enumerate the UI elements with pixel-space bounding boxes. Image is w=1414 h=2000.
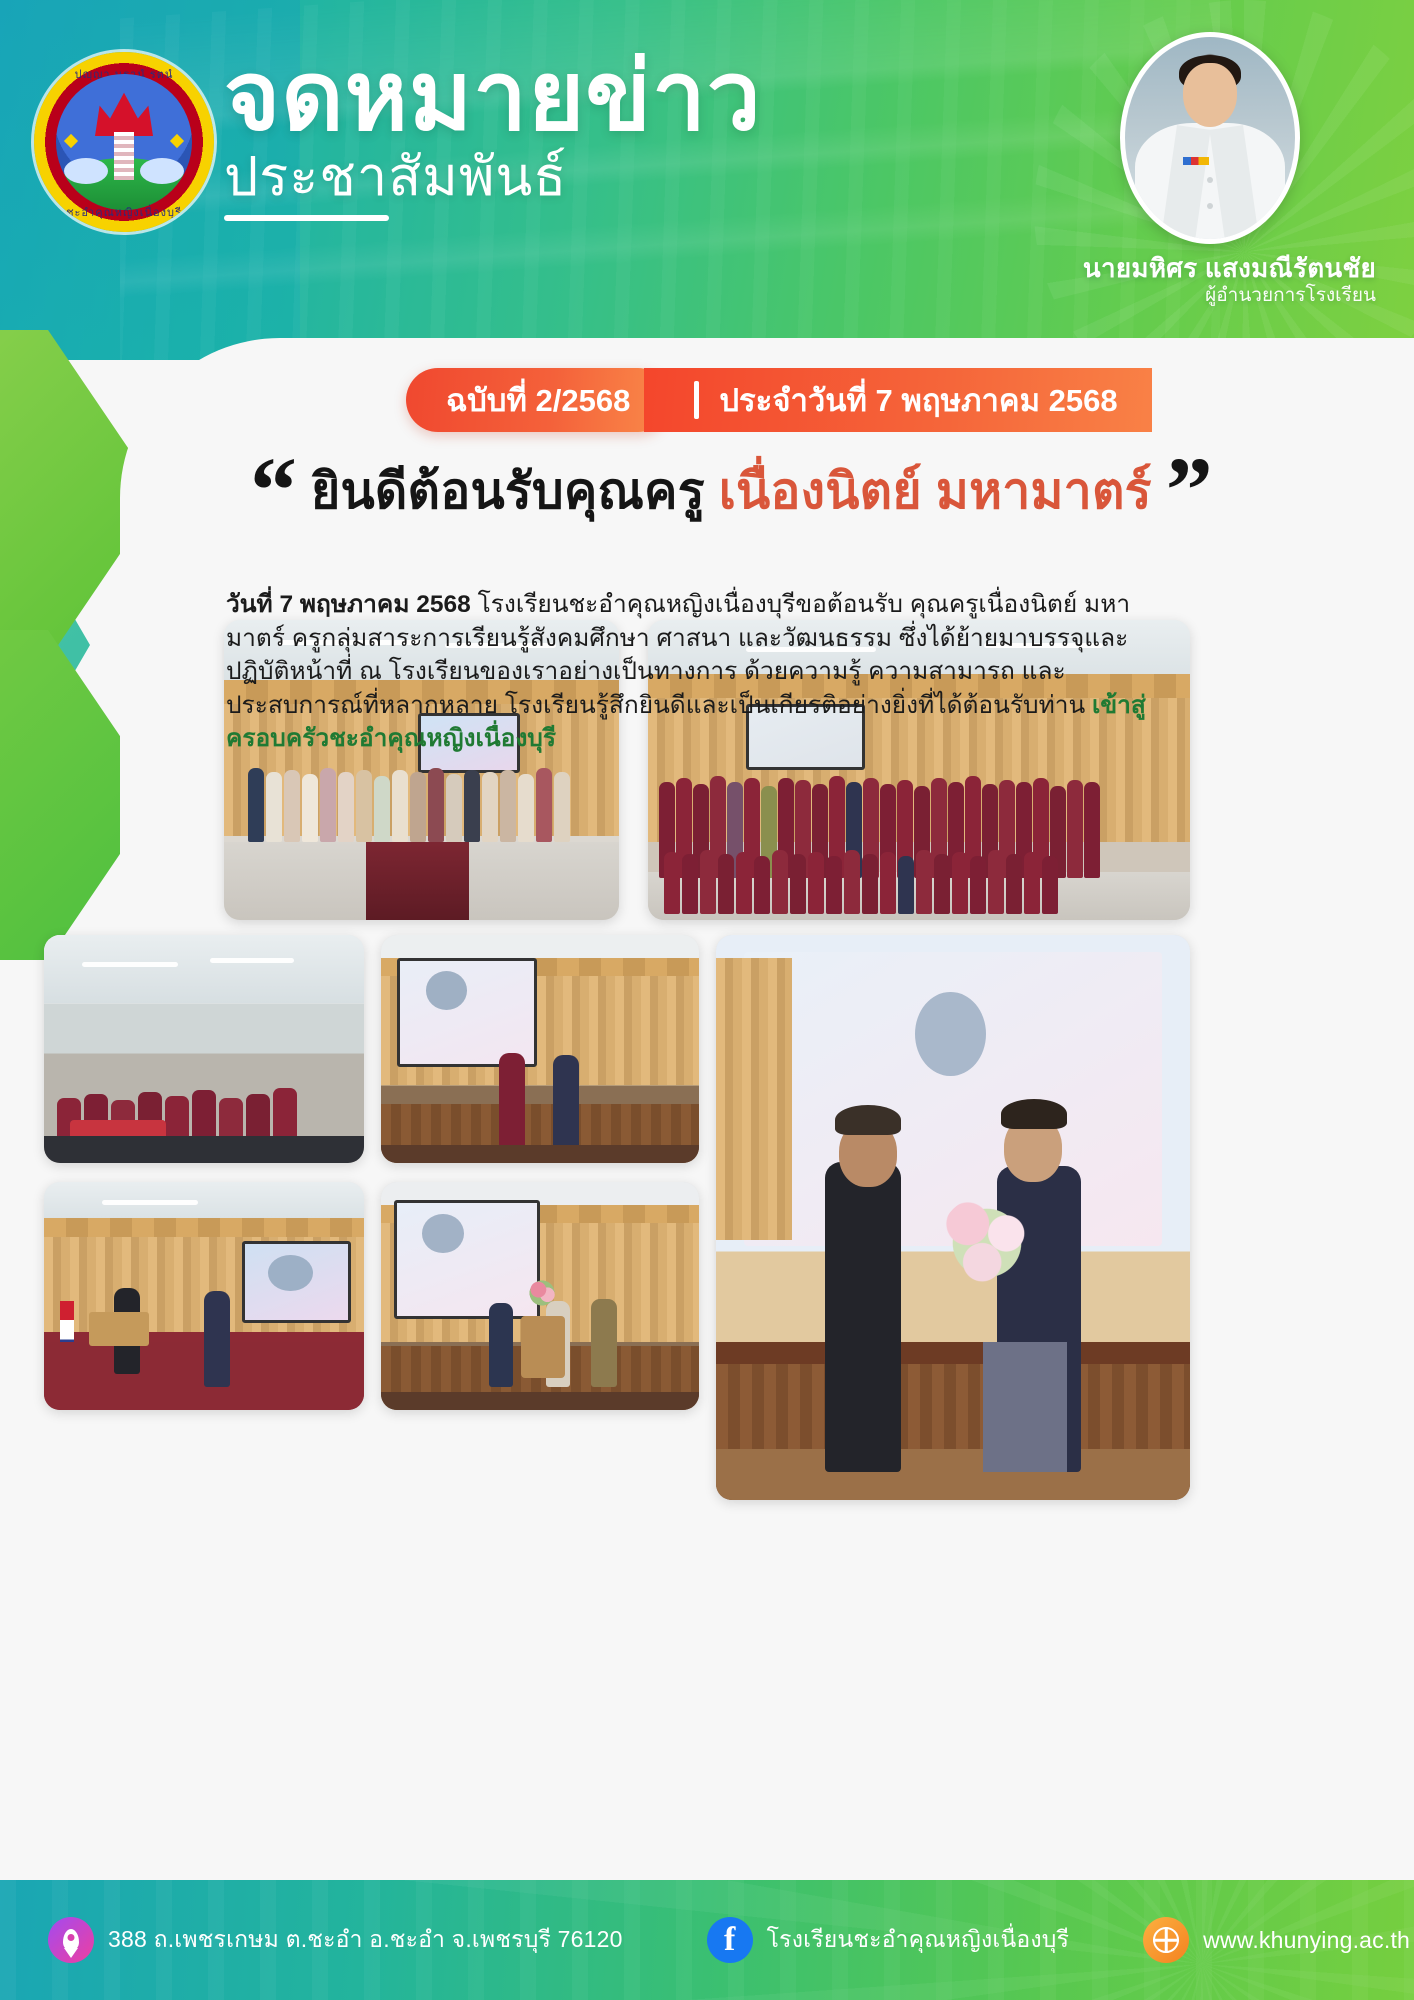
director-avatar xyxy=(1120,32,1300,244)
headline-main-text: ยินดีต้อนรับคุณครู xyxy=(311,452,705,531)
header-banner: ปญฺญา นรานํ รตนํ ชะอำคุณหญิงเนื่องบุรี จ… xyxy=(0,0,1414,360)
director-face xyxy=(1183,63,1237,127)
masthead-title: จดหมายข่าว xyxy=(224,48,904,146)
issue-date-bar: ประจำวันที่ 7 พฤษภาคม 2568 xyxy=(644,368,1151,432)
school-logo: ปญฺญา นรานํ รตนํ ชะอำคุณหญิงเนื่องบุรี xyxy=(34,52,214,232)
globe-icon[interactable] xyxy=(1143,1917,1189,1963)
facebook-icon[interactable]: f xyxy=(707,1917,753,1963)
issue-separator-icon xyxy=(694,381,699,419)
photo-grid xyxy=(0,600,1414,1900)
issue-number-badge: ฉบับที่ 2/2568 xyxy=(406,368,670,432)
logo-ray-left-icon xyxy=(64,134,78,148)
director-button-1 xyxy=(1207,177,1213,183)
logo-cloud-right-icon xyxy=(140,158,184,184)
logo-ray-right-icon xyxy=(170,134,184,148)
logo-inner-emblem xyxy=(56,74,192,210)
footer-address-text: 388 ถ.เพชรเกษม ต.ชะอำ อ.ชะอำ จ.เพชรบุรี … xyxy=(108,1922,623,1958)
logo-cloud-left-icon xyxy=(64,158,108,184)
director-button-2 xyxy=(1207,203,1213,209)
headline: “ ยินดีต้อนรับคุณครูเนื่องนิตย์ มหามาตร์… xyxy=(250,452,1350,531)
footer-website-item[interactable]: www.khunying.ac.th xyxy=(1143,1917,1410,1963)
logo-bottom-name: ชะอำคุณหญิงเนื่องบุรี xyxy=(34,203,214,221)
newsletter-page: ปญฺญา นรานํ รตนํ ชะอำคุณหญิงเนื่องบุรี จ… xyxy=(0,0,1414,2000)
quote-open-icon: “ xyxy=(250,462,297,520)
location-pin-icon xyxy=(48,1917,94,1963)
photo-teacher-speaking[interactable] xyxy=(44,1182,364,1410)
photo-two-teachers-stage[interactable] xyxy=(381,935,699,1163)
footer-facebook-item[interactable]: f โรงเรียนชะอำคุณหญิงเนื่องบุรี xyxy=(707,1917,1070,1963)
masthead-rule xyxy=(224,215,389,221)
masthead: จดหมายข่าว ประชาสัมพันธ์ xyxy=(224,48,904,221)
logo-crown-icon xyxy=(95,90,153,136)
photo-flower-presentation[interactable] xyxy=(716,935,1190,1500)
issue-bar: ฉบับที่ 2/2568 ประจำวันที่ 7 พฤษภาคม 256… xyxy=(406,368,1152,432)
issue-date-label: ประจำวันที่ 7 พฤษภาคม 2568 xyxy=(719,375,1117,425)
masthead-subtitle: ประชาสัมพันธ์ xyxy=(224,148,904,207)
headline-accent-text: เนื่องนิตย์ มหามาตร์ xyxy=(719,452,1152,531)
photo-meeting-seated[interactable] xyxy=(44,935,364,1163)
logo-pagoda-icon xyxy=(114,132,134,180)
body-lead-date: วันที่ 7 พฤษภาคม 2568 xyxy=(226,591,471,618)
quote-close-icon: ” xyxy=(1166,462,1213,520)
footer-address-item: 388 ถ.เพชรเกษม ต.ชะอำ อ.ชะอำ จ.เพชรบุรี … xyxy=(48,1917,623,1963)
photo-podium-welcome[interactable] xyxy=(381,1182,699,1410)
director-role: ผู้อำนวยการโรงเรียน xyxy=(956,280,1376,310)
director-medal-ribbon xyxy=(1183,157,1209,165)
body-paragraph: วันที่ 7 พฤษภาคม 2568 โรงเรียนชะอำคุณหญิ… xyxy=(226,588,1186,756)
footer-website-text[interactable]: www.khunying.ac.th xyxy=(1203,1927,1410,1954)
footer-bar: 388 ถ.เพชรเกษม ต.ชะอำ อ.ชะอำ จ.เพชรบุรี … xyxy=(0,1880,1414,2000)
footer-facebook-text[interactable]: โรงเรียนชะอำคุณหญิงเนื่องบุรี xyxy=(767,1922,1070,1958)
